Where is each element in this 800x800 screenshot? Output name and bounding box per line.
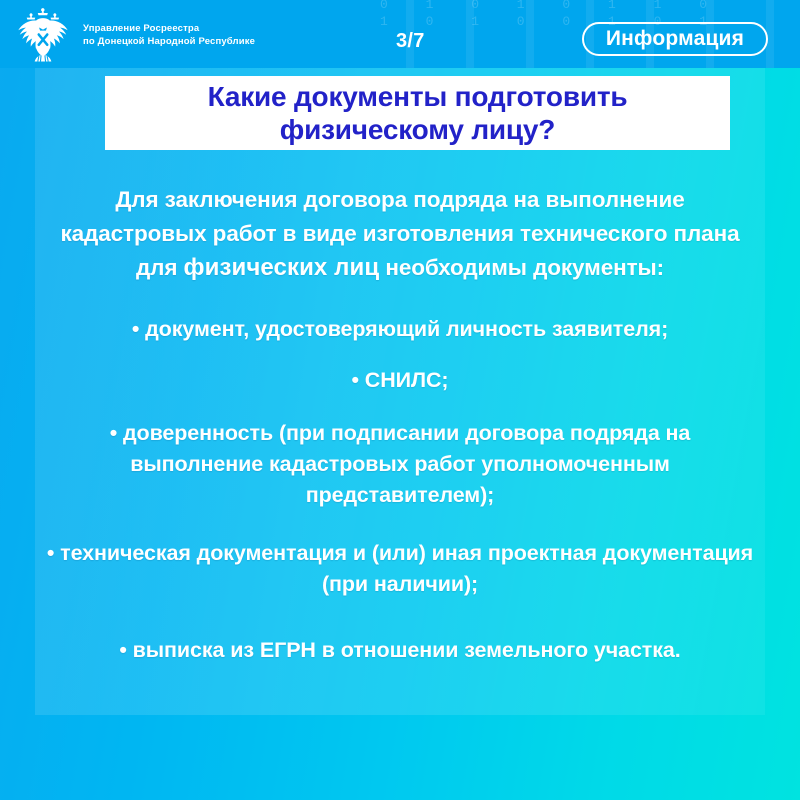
list-item: • выписка из ЕГРН в отношении земельного…: [40, 635, 760, 666]
list-item: • техническая документация и (или) иная …: [40, 538, 760, 600]
intro-text-part-2: необходимы документы:: [379, 255, 664, 280]
intro-emphasis: физических лиц: [184, 254, 380, 281]
slide-title-line-1: Какие документы подготовить: [208, 80, 628, 113]
brand-block: Управление Росреестра по Донецкой Народн…: [12, 4, 255, 66]
organization-name-line1: Управление Росреестра: [83, 22, 255, 35]
slide-title-line-2: физическому лицу?: [280, 113, 555, 146]
slide-title-box: Какие документы подготовить физическому …: [105, 76, 730, 150]
list-item: • документ, удостоверяющий личность заяв…: [40, 314, 760, 345]
documents-list: • документ, удостоверяющий личность заяв…: [40, 314, 760, 666]
information-badge[interactable]: Информация: [582, 22, 768, 56]
organization-name: Управление Росреестра по Донецкой Народн…: [83, 22, 255, 48]
organization-name-line2: по Донецкой Народной Республике: [83, 35, 255, 48]
list-item: • СНИЛС;: [40, 365, 760, 396]
slide-root: 0 1 0 1 0 1 1 0 1 0 1 0 0 1 0 1: [0, 0, 800, 800]
double-headed-eagle-emblem-icon: [12, 4, 74, 66]
intro-paragraph: Для заключения договора подряда на выпол…: [40, 183, 760, 285]
slide-content: Для заключения договора подряда на выпол…: [40, 160, 760, 666]
header-bar: 0 1 0 1 0 1 1 0 1 0 1 0 0 1 0 1: [0, 0, 800, 68]
list-item: • доверенность (при подписании договора …: [40, 418, 760, 511]
page-counter: 3/7: [396, 30, 425, 53]
